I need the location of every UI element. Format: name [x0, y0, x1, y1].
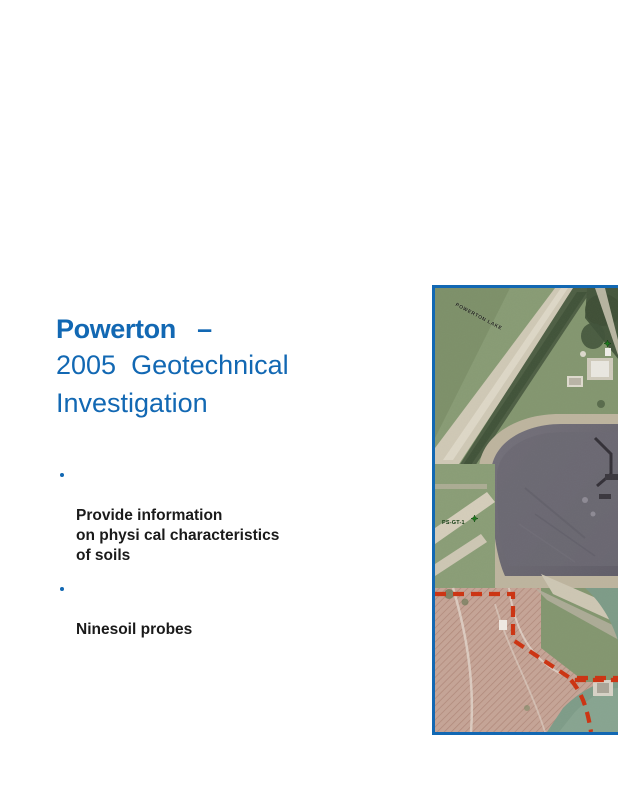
bullet-dot-icon: [60, 473, 64, 477]
page-title: Powerton – 2005 Geotechnical Investigati…: [56, 312, 396, 422]
title-line-3: Investigation: [56, 384, 396, 422]
bullet-list: Provide information on physi cal charact…: [58, 466, 398, 654]
boring-marker-ps-gt-1[interactable]: [471, 515, 478, 522]
list-item-label: Provide information on physi cal charact…: [76, 507, 279, 564]
list-item: Ninesoil probes: [58, 580, 398, 640]
bullet-dot-icon: [60, 587, 64, 591]
aerial-photo-image: POWERTON LAKE PS-GT-1: [435, 288, 618, 732]
boring-marker-east[interactable]: [604, 340, 611, 347]
aerial-map-graphic: [435, 288, 618, 732]
title-line-2: 2005 Geotechnical: [56, 346, 396, 384]
title-line-1: Powerton –: [56, 312, 396, 346]
list-item-label: Ninesoil probes: [76, 621, 192, 638]
list-item: Provide information on physi cal charact…: [58, 466, 398, 566]
slide-canvas: Powerton – 2005 Geotechnical Investigati…: [0, 0, 618, 800]
map-label-boring: PS-GT-1: [442, 520, 465, 526]
aerial-photo-panel: POWERTON LAKE PS-GT-1: [432, 285, 618, 735]
